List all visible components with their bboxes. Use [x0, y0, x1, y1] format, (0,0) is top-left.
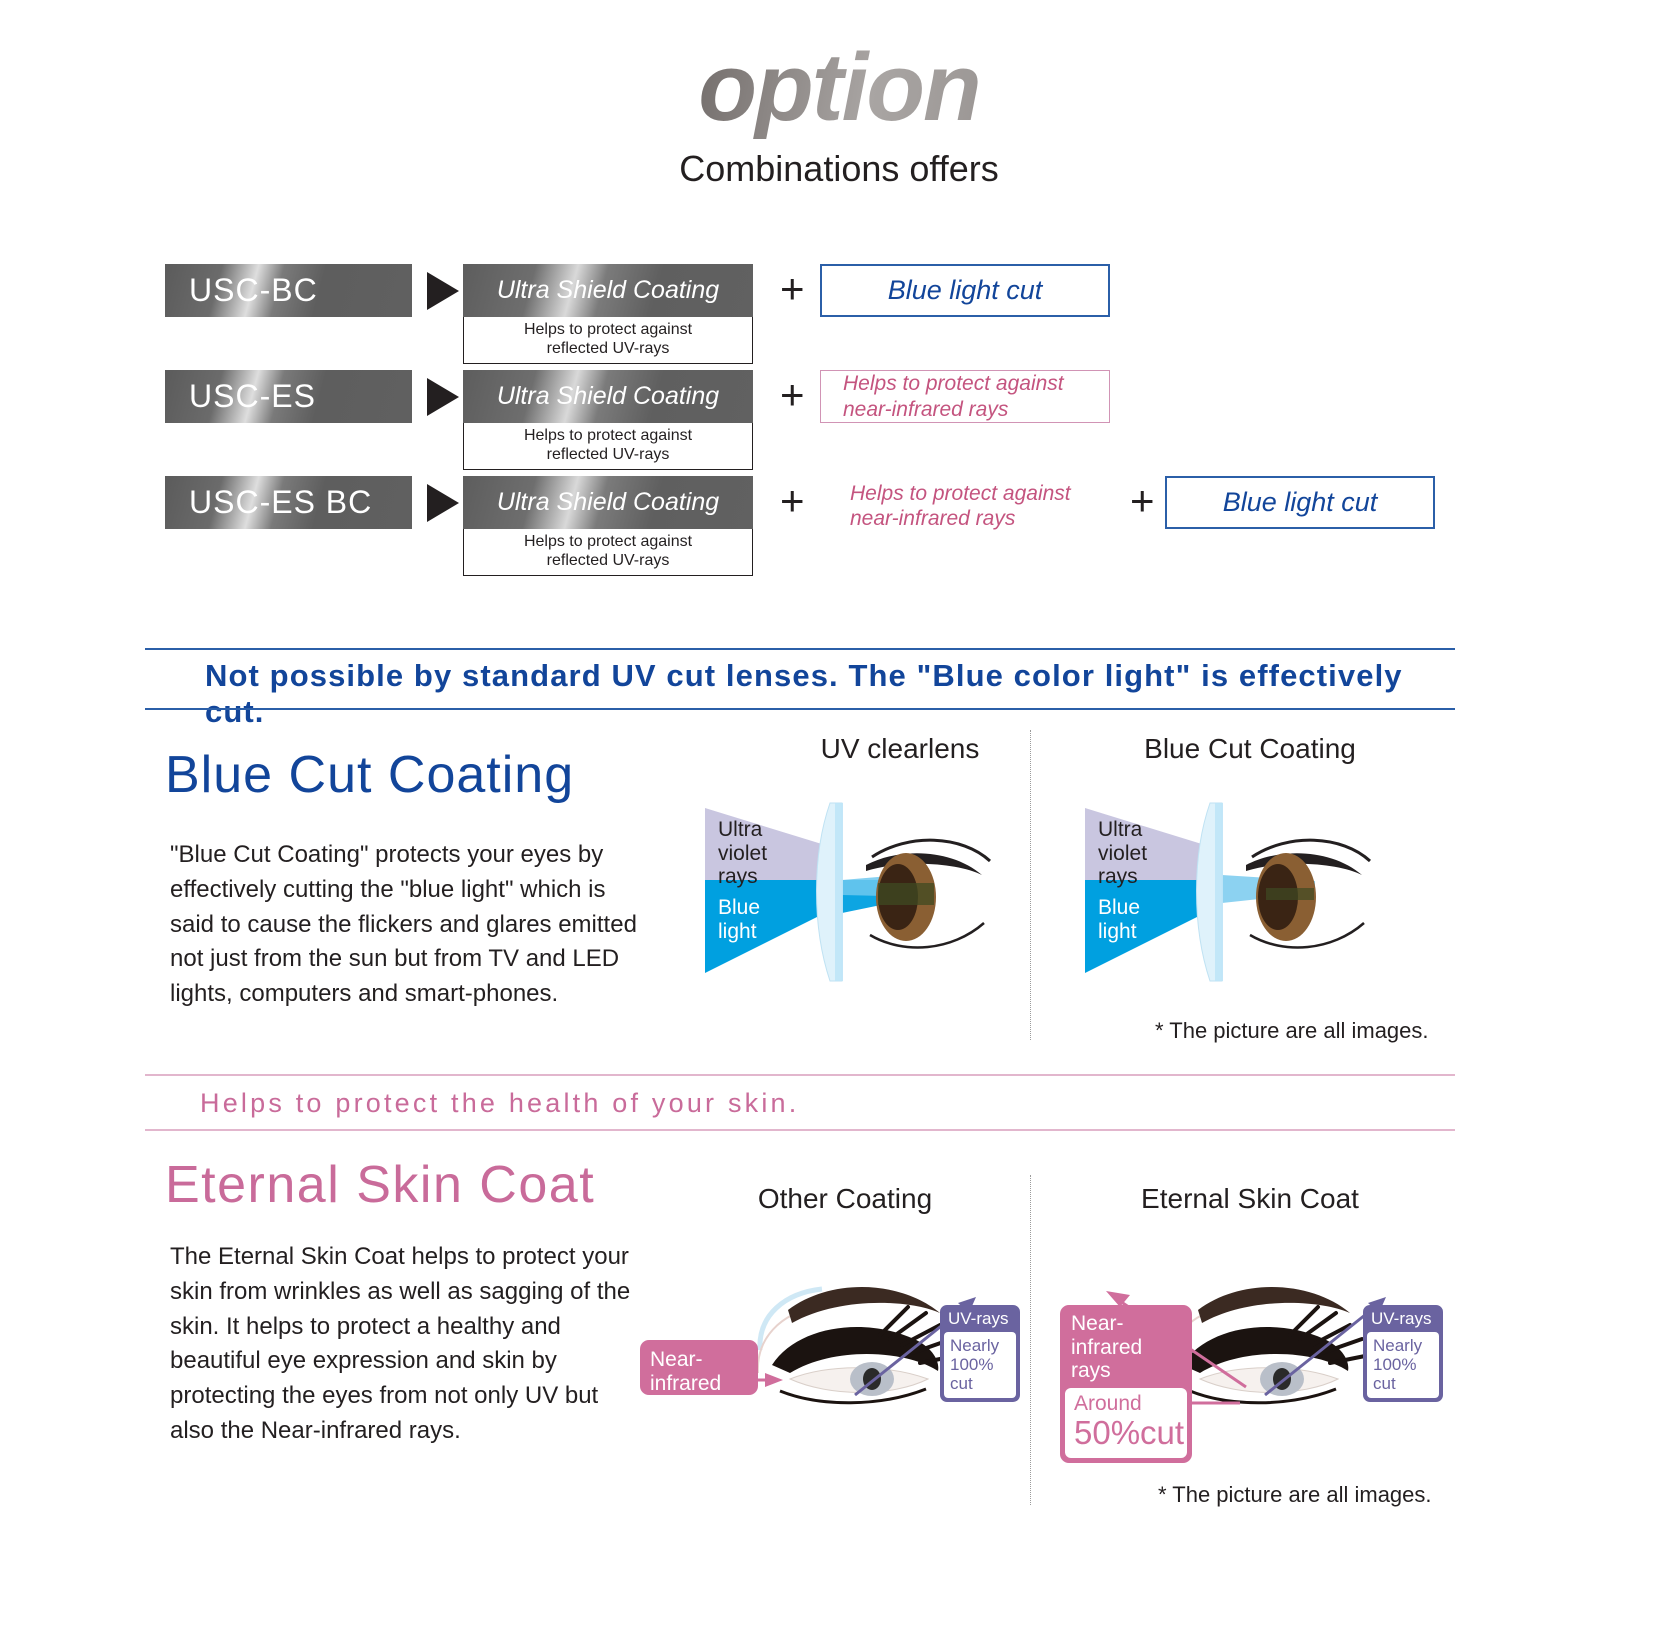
ultra-shield-block: Ultra Shield Coating Helps to protect ag… [463, 370, 753, 470]
uv-callout-head: UV-rays [1365, 1307, 1441, 1332]
near-infrared-badge: Helps to protect against near-infrared r… [820, 370, 1110, 423]
usc-note-line-2: reflected UV-rays [464, 552, 752, 571]
beam-over-eye-icon [878, 883, 934, 905]
usc-note-line-1: Helps to protect against [464, 533, 752, 552]
uv-label-line-3: rays [718, 865, 767, 889]
nir-text-line-1: Helps to protect against [850, 481, 1150, 506]
near-infrared-callout-esc: Near-infrared rays Around 50%cut [1060, 1305, 1192, 1463]
section-divider-blue [1030, 730, 1031, 1040]
blue-light-cut-badge: Blue light cut [820, 264, 1110, 317]
combination-row: USC-ES BC Ultra Shield Coating Helps to … [165, 476, 1495, 536]
nir-other-line-1: Near-infrared [650, 1348, 748, 1396]
nir-other-line-2: rays [650, 1396, 748, 1420]
plus-sign-icon: + [780, 374, 805, 416]
uv-label-line-1: Ultra [718, 818, 767, 842]
blue-label-left: Blue light [718, 896, 760, 943]
image-disclaimer-pink: * The picture are all images. [1158, 1482, 1432, 1508]
blue-label-line-2: light [718, 920, 760, 944]
uv-callout-line-3: cut [1373, 1374, 1433, 1393]
ultra-shield-note: Helps to protect against reflected UV-ra… [463, 423, 753, 470]
blue-rule-bottom [145, 708, 1455, 710]
nir-esc-body-line-2: 50%cut [1074, 1415, 1178, 1451]
eternal-skin-body: The Eternal Skin Coat helps to protect y… [170, 1240, 640, 1449]
page-subtitle: Combinations offers [0, 148, 1678, 190]
nir-esc-head: Near-infrared rays [1062, 1307, 1190, 1388]
blue-label-right: Blue light [1098, 896, 1140, 943]
ultra-shield-note: Helps to protect against reflected UV-ra… [463, 529, 753, 576]
blue-label-line-2: light [1098, 920, 1140, 944]
uv-rays-callout-other: UV-rays Nearly 100% cut [940, 1305, 1020, 1402]
uv-callout-line-2: 100% [1373, 1355, 1433, 1374]
ultra-shield-label: Ultra Shield Coating [463, 370, 753, 423]
nir-esc-head-line-1: Near-infrared [1071, 1312, 1181, 1359]
usc-note-line-2: reflected UV-rays [464, 446, 752, 465]
nir-arrow-head-icon [765, 1373, 783, 1387]
lens-edge-icon [835, 803, 843, 981]
diagram-caption-other-coating: Other Coating [700, 1183, 990, 1215]
combination-row: USC-ES Ultra Shield Coating Helps to pro… [165, 370, 1495, 430]
blue-light-cut-badge: Blue light cut [1165, 476, 1435, 529]
uv-label-line-2: violet [1098, 842, 1147, 866]
uv-callout-body: Nearly 100% cut [944, 1332, 1016, 1398]
product-code-chip: USC-ES [165, 370, 412, 423]
usc-note-line-2: reflected UV-rays [464, 340, 752, 359]
ultra-shield-block: Ultra Shield Coating Helps to protect ag… [463, 264, 753, 364]
pink-rule-bottom [145, 1129, 1455, 1131]
poster-page: option Combinations offers USC-BC Ultra … [0, 0, 1678, 1642]
diagram-caption-eternal-skin: Eternal Skin Coat [1100, 1183, 1400, 1215]
arrow-right-icon [427, 378, 459, 416]
section-divider-pink [1030, 1175, 1031, 1505]
uv-label-right: Ultra violet rays [1098, 818, 1147, 889]
image-disclaimer-blue: * The picture are all images. [1155, 1018, 1429, 1044]
blue-label-line-1: Blue [1098, 896, 1140, 920]
lens-edge-icon [1215, 803, 1223, 981]
usc-note-line-1: Helps to protect against [464, 321, 752, 340]
uv-label-line-1: Ultra [1098, 818, 1147, 842]
nir-esc-head-line-2: rays [1071, 1359, 1181, 1383]
nir-esc-body: Around 50%cut [1065, 1388, 1187, 1458]
ultra-shield-block: Ultra Shield Coating Helps to protect ag… [463, 476, 753, 576]
uv-callout-line-3: cut [950, 1374, 1010, 1393]
nir-esc-body-line-1: Around [1074, 1392, 1178, 1415]
near-infrared-callout-other: Near-infrared rays [640, 1340, 758, 1395]
uv-rays-callout-esc: UV-rays Nearly 100% cut [1363, 1305, 1443, 1402]
ultra-shield-label: Ultra Shield Coating [463, 264, 753, 317]
product-code-chip: USC-BC [165, 264, 412, 317]
uv-callout-head: UV-rays [942, 1307, 1018, 1332]
nir-badge-line-2: near-infrared rays [843, 397, 1064, 422]
plus-sign-icon: + [1130, 480, 1155, 522]
uv-label-line-2: violet [718, 842, 767, 866]
beam-over-eye-icon [1266, 888, 1314, 900]
plus-sign-icon: + [780, 480, 805, 522]
ultra-shield-note: Helps to protect against reflected UV-ra… [463, 317, 753, 364]
diagram-caption-uv-clearlens: UV clearlens [760, 733, 1040, 765]
combination-row: USC-BC Ultra Shield Coating Helps to pro… [165, 264, 1495, 324]
uv-callout-line-1: Nearly [950, 1336, 1010, 1355]
near-infrared-text: Helps to protect against near-infrared r… [850, 481, 1150, 531]
uv-callout-line-1: Nearly [1373, 1336, 1433, 1355]
pink-banner-text: Helps to protect the health of your skin… [200, 1088, 1450, 1119]
nir-text-line-2: near-infrared rays [850, 506, 1150, 531]
uv-label-left: Ultra violet rays [718, 818, 767, 889]
arrow-right-icon [427, 484, 459, 522]
diagram-caption-blue-cut: Blue Cut Coating [1100, 733, 1400, 765]
product-code-chip: USC-ES BC [165, 476, 412, 529]
blue-banner-text: Not possible by standard UV cut lenses. … [205, 658, 1455, 730]
blue-cut-title: Blue Cut Coating [165, 745, 574, 805]
uv-label-line-3: rays [1098, 865, 1147, 889]
plus-sign-icon: + [780, 268, 805, 310]
arrow-right-icon [427, 272, 459, 310]
blue-label-line-1: Blue [718, 896, 760, 920]
usc-note-line-1: Helps to protect against [464, 427, 752, 446]
blue-rule-top [145, 648, 1455, 650]
uv-callout-line-2: 100% [950, 1355, 1010, 1374]
uv-callout-body: Nearly 100% cut [1367, 1332, 1439, 1398]
blue-cut-body: "Blue Cut Coating" protects your eyes by… [170, 838, 640, 1012]
nir-badge-line-1: Helps to protect against [843, 371, 1064, 396]
ultra-shield-label: Ultra Shield Coating [463, 476, 753, 529]
combinations-section: USC-BC Ultra Shield Coating Helps to pro… [0, 250, 1678, 590]
pink-rule-top [145, 1074, 1455, 1076]
eternal-skin-title: Eternal Skin Coat [165, 1155, 595, 1215]
brand-logo: option [0, 38, 1678, 139]
